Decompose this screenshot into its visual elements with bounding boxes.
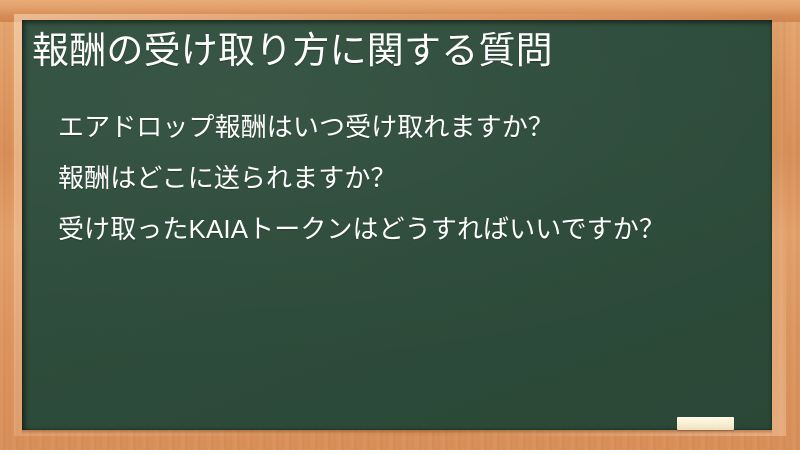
chalkboard-slide: 報酬の受け取り方に関する質問 エアドロップ報酬はいつ受け取れますか？ 報酬はどこ… [0,0,800,450]
list-item: 報酬はどこに送られますか？ [58,157,758,199]
chalkboard-surface: 報酬の受け取り方に関する質問 エアドロップ報酬はいつ受け取れますか？ 報酬はどこ… [22,20,772,430]
list-item: 受け取ったKAIAトークンはどうすればいいですか？ [58,208,758,250]
list-item: エアドロップ報酬はいつ受け取れますか？ [58,106,758,148]
question-list: エアドロップ報酬はいつ受け取れますか？ 報酬はどこに送られますか？ 受け取ったK… [58,106,758,259]
page-title: 報酬の受け取り方に関する質問 [32,28,758,75]
chalkboard-content: 報酬の受け取り方に関する質問 エアドロップ報酬はいつ受け取れますか？ 報酬はどこ… [22,20,772,430]
board-ledge-shadow [22,430,772,434]
chalk-stick-icon [677,417,734,430]
